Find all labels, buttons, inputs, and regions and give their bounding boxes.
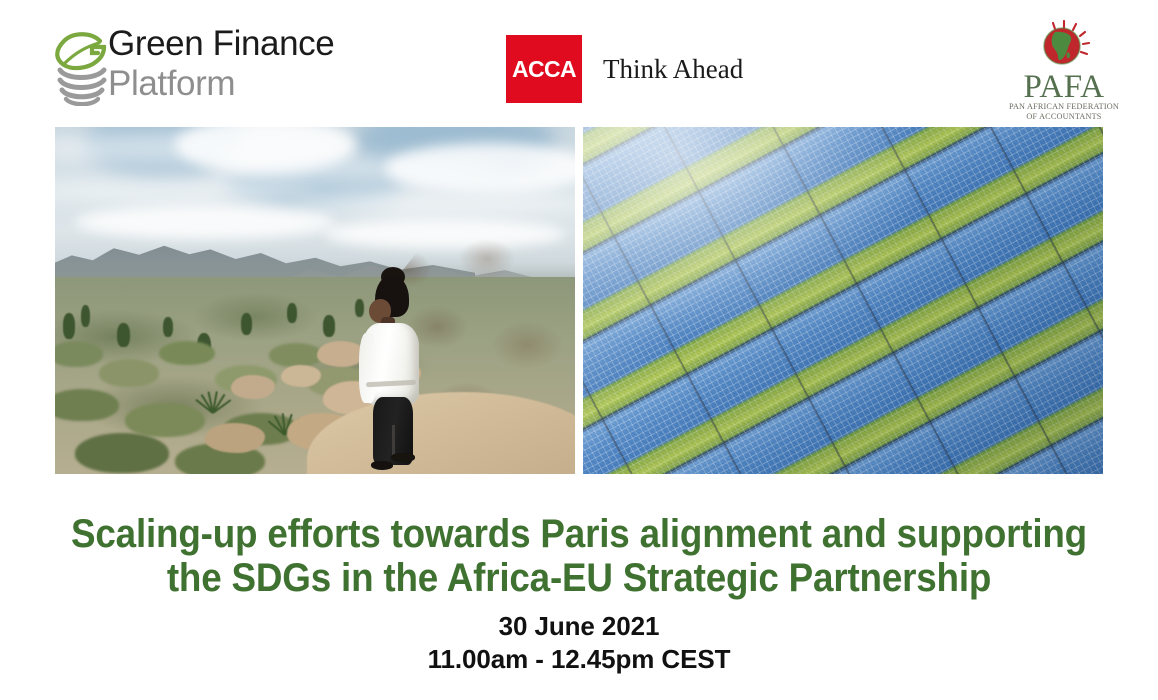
event-details: 30 June 2021 11.00am - 12.45pm CEST: [0, 610, 1158, 676]
scrub-bush: [55, 341, 103, 367]
event-title-line1: Scaling-up efforts towards Paris alignme…: [46, 512, 1111, 556]
scrub-bush: [55, 389, 119, 421]
joshua-tree: [63, 313, 75, 339]
gfp-line1: Green Finance: [108, 24, 378, 64]
green-finance-platform-logo: Green Finance Platform: [52, 24, 382, 110]
pafa-subtitle-line2: OF ACCOUNTANTS: [1005, 112, 1123, 121]
leaf-coin-stack-icon: [52, 28, 114, 106]
yucca-plant: [189, 379, 235, 413]
event-date: 30 June 2021: [0, 610, 1158, 643]
boulder: [231, 375, 275, 399]
scrub-bush: [269, 343, 323, 367]
scrub-bush: [99, 359, 159, 387]
cloud: [295, 189, 575, 217]
boulder: [205, 423, 265, 453]
event-time: 11.00am - 12.45pm CEST: [0, 643, 1158, 676]
africa-map-sun-icon: [1031, 20, 1095, 72]
event-title-line2: the SDGs in the Africa-EU Strategic Part…: [46, 556, 1111, 600]
person-figure: [357, 275, 427, 471]
event-title: Scaling-up efforts towards Paris alignme…: [0, 512, 1158, 600]
joshua-tree: [287, 303, 297, 323]
scrub-bush: [159, 341, 215, 365]
joshua-tree: [163, 317, 173, 337]
person-shoe: [391, 453, 415, 462]
webinar-banner: Green Finance Platform ACCA Think Ahead: [0, 0, 1158, 700]
pafa-wordmark: PAFA: [1005, 70, 1123, 104]
cloud: [385, 143, 575, 193]
boulder: [281, 365, 321, 387]
pafa-subtitle-line1: PAN AFRICAN FEDERATION: [1005, 102, 1123, 111]
solar-panel-farm-photo: [583, 127, 1103, 474]
desert-landscape-photo: [55, 127, 575, 474]
photo-band: [55, 127, 1103, 474]
sunlight-glare: [583, 127, 1103, 474]
acca-logo: ACCA Think Ahead: [506, 35, 743, 103]
acca-tagline: Think Ahead: [603, 54, 743, 85]
cloud: [75, 205, 335, 239]
logo-row: Green Finance Platform ACCA Think Ahead: [0, 0, 1158, 122]
joshua-tree: [81, 305, 90, 327]
acca-mark: ACCA: [506, 35, 582, 103]
acca-mark-text: ACCA: [512, 56, 576, 83]
scrub-bush: [75, 433, 169, 473]
desert-scene: [55, 127, 575, 474]
pafa-logo: PAFA PAN AFRICAN FEDERATION OF ACCOUNTAN…: [1005, 20, 1123, 120]
person-shoe: [371, 461, 393, 470]
joshua-tree: [241, 313, 252, 335]
green-finance-platform-wordmark: Green Finance Platform: [108, 24, 378, 104]
joshua-tree: [117, 323, 130, 347]
person-arm: [359, 333, 376, 403]
gfp-line2: Platform: [108, 64, 378, 104]
joshua-tree: [323, 315, 335, 337]
